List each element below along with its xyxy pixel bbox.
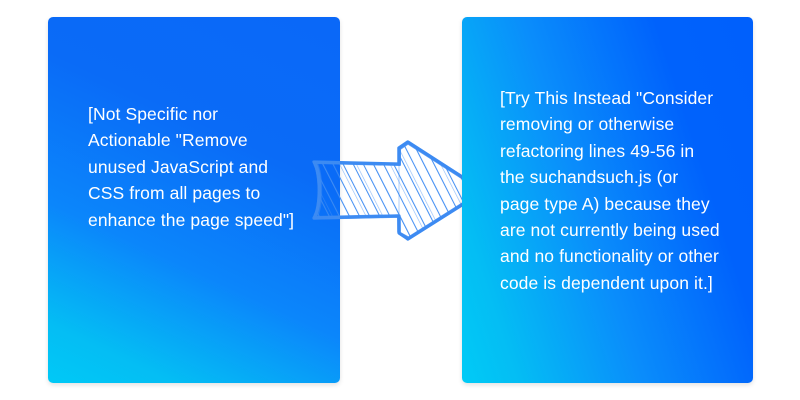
panel-before-text: [Not Specific nor Actionable "Remove unu… [88, 101, 303, 233]
panel-after-text: [Try This Instead "Consider removing or … [500, 85, 722, 296]
panel-after[interactable]: [Try This Instead "Consider removing or … [462, 17, 753, 383]
slide-canvas: [Not Specific nor Actionable "Remove unu… [0, 0, 800, 400]
panel-before[interactable]: [Not Specific nor Actionable "Remove unu… [48, 17, 340, 383]
